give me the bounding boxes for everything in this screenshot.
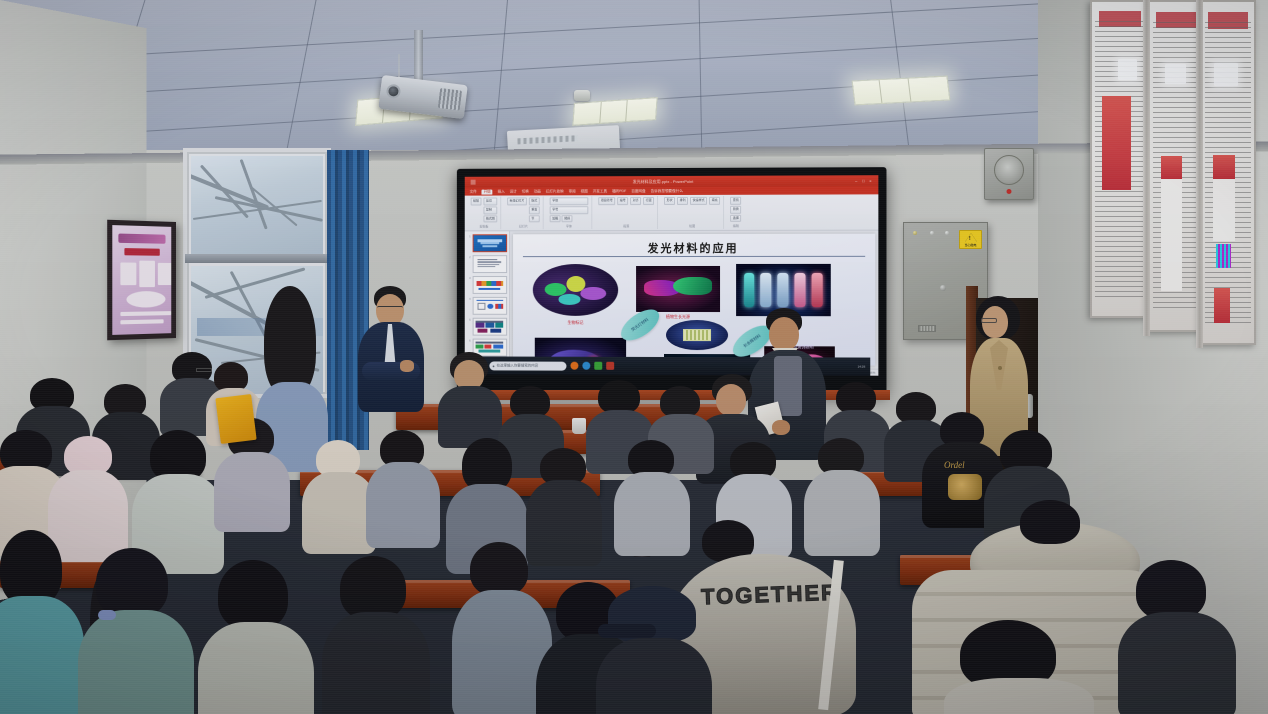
ribbon-group-label: 段落 [598,224,654,228]
italic-button[interactable]: 倾斜 [562,215,573,223]
tab-foxit-pdf[interactable]: 福昕PDF [612,189,626,194]
smoke-detector-icon [574,90,590,101]
slide-title-rule [523,256,865,257]
ribbon-group-font: 字体 字号 加粗 倾斜 字体 [547,196,593,229]
ribbon-group-paragraph: 项目符号 编号 对齐 行距 段落 [595,196,658,229]
slide-title: 发光材料的应用 [513,240,875,256]
yellow-tote-bag [215,394,256,444]
ribbon-group-label: 字体 [550,224,589,228]
eyeglasses [196,368,212,372]
slide-figure [636,266,720,312]
ribbon-group-label: 绘图 [664,224,720,228]
ribbon-group-clipboard: 粘贴 剪切 复制 格式刷 剪贴板 [468,197,502,230]
thumb-preview[interactable] [472,297,507,315]
thumbnail-item[interactable]: 5 [467,318,507,336]
maximize-button[interactable]: □ [862,178,867,183]
framed-poster [107,220,176,341]
screen-surface: 发光材料及应用.pptx - PowerPoint – □ × 文件 开始 插入… [465,175,879,376]
section-button[interactable]: 节 [529,215,540,223]
ribbon: 粘贴 剪切 复制 格式刷 剪贴板 新建幻灯片 [465,194,879,231]
taskbar-clock[interactable]: 14:26 [858,365,866,369]
classroom-photo: 当心触电 发光材料及应用.pptx - PowerPoint – □ × 文件 … [0,0,1268,714]
tab-animations[interactable]: 动画 [534,189,541,194]
cut-button[interactable]: 剪切 [483,198,497,206]
projector-lens [386,84,402,100]
figure-caption: 生物标记 [539,320,612,326]
powerpoint-icon[interactable] [606,362,614,370]
warning-text: 当心触电 [960,243,981,247]
eyeglasses [981,318,997,323]
thumbnail-item[interactable]: 1 [467,234,507,252]
thumb-number: 1 [467,234,471,238]
ribbon-group-editing: 查找 替换 选择 编辑 [727,196,744,229]
new-slide-button[interactable]: 新建幻灯片 [507,197,527,205]
window-glass-upper [191,156,323,256]
poster-divider [1196,0,1203,348]
tab-baidu-pan[interactable]: 百度网盘 [631,189,645,194]
bullets-button[interactable]: 项目符号 [598,197,615,205]
select-button[interactable]: 选择 [730,214,741,222]
tab-home[interactable]: 开始 [482,189,493,194]
taskbar-search-input[interactable]: ● 在这里输入你要搜索的内容 [489,361,566,370]
quick-styles-button[interactable]: 快速样式 [690,197,707,205]
electric-hazard-sticker: 当心触电 [959,230,982,249]
slide-thumbnail-pane[interactable]: 1 2 [465,231,510,367]
tab-design[interactable]: 设计 [510,189,517,194]
line-spacing-button[interactable]: 行距 [643,197,654,205]
arrange-button[interactable]: 排列 [677,197,688,205]
tab-file[interactable]: 文件 [470,189,477,194]
powerpoint-window: 发光材料及应用.pptx - PowerPoint – □ × 文件 开始 插入… [465,175,879,376]
reset-button[interactable]: 重置 [529,206,540,214]
font-family-select[interactable]: 字体 [550,197,589,205]
powerpoint-body: 1 2 [465,231,879,369]
thumb-preview[interactable] [472,234,507,252]
slide-center-node [666,320,728,350]
wall-speaker [984,148,1034,200]
thumbnail-item[interactable]: 4 [467,297,507,315]
replace-button[interactable]: 替换 [730,206,741,214]
wall-poster-frame [1200,0,1256,345]
font-size-select[interactable]: 字号 [550,206,589,214]
format-painter-button[interactable]: 格式刷 [483,215,497,223]
coat-button [998,366,1002,370]
thumb-number: 4 [467,297,471,301]
jacket-text: Ordel [944,460,965,470]
poster-divider [1143,0,1150,336]
shapes-button[interactable]: 形状 [664,197,675,205]
tab-view[interactable]: 视图 [581,189,588,194]
shape-fill-button[interactable]: 填充 [709,197,720,205]
current-slide[interactable]: 发光材料的应用 生物标记 [513,234,875,366]
hair-tie [98,610,116,620]
minimize-button[interactable]: – [855,178,860,183]
hand [400,360,414,372]
ribbon-group-drawing: 形状 排列 快速样式 填充 绘图 [661,196,724,229]
tab-transitions[interactable]: 切换 [522,189,529,194]
eyeglasses [377,306,403,311]
window-title: 发光材料及应用.pptx - PowerPoint [476,178,853,185]
hand [772,420,790,435]
layout-button[interactable]: 版式 [529,197,540,205]
close-button[interactable]: × [869,178,874,183]
paper-cup [572,418,586,434]
thumb-preview[interactable] [472,255,507,273]
window-mullion [185,254,329,263]
thumb-number: 5 [467,318,471,322]
tab-slideshow[interactable]: 幻灯片放映 [546,189,564,194]
ceiling-light-panel [572,97,657,126]
ribbon-group-label: 编辑 [730,224,741,228]
ribbon-group-label: 幻灯片 [507,224,540,228]
ceiling-light-panel [852,76,951,106]
tab-review[interactable]: 审阅 [569,189,576,194]
thumb-preview[interactable] [472,318,507,336]
projection-screen: 发光材料及应用.pptx - PowerPoint – □ × 文件 开始 插入… [457,167,887,394]
tab-insert[interactable]: 插入 [498,189,505,194]
ribbon-group-slides: 新建幻灯片 版式 重置 节 幻灯片 [504,196,544,229]
wall-poster-frame [1090,0,1150,318]
thumbnail-item[interactable]: 2 [467,255,507,273]
jacket-embroidery [948,474,982,500]
browser-icon[interactable] [582,362,590,370]
slide-editing-area[interactable]: 发光材料的应用 生物标记 [510,231,878,369]
numbering-button[interactable]: 编号 [617,197,628,205]
slide-figure [533,264,618,316]
ribbon-group-label: 剪贴板 [471,224,498,228]
copy-button[interactable]: 复制 [483,206,497,214]
wechat-icon[interactable] [594,362,602,370]
align-button[interactable]: 对齐 [630,197,641,205]
head [716,384,746,416]
search-placeholder: 在这里输入你要搜索的内容 [497,363,538,368]
thumb-number: 3 [467,276,471,280]
head [769,317,799,351]
thumbnail-item[interactable]: 3 [467,276,507,294]
thumb-number: 6 [467,339,471,343]
firefox-icon[interactable] [570,362,578,370]
thumb-number: 2 [467,255,471,259]
find-button[interactable]: 查找 [730,197,741,205]
bold-button[interactable]: 加粗 [550,215,561,223]
paste-button[interactable]: 粘贴 [471,198,482,206]
tell-me-box[interactable]: 告诉我您想要做什么 [651,188,683,193]
search-icon: ● [492,363,494,368]
tab-developer[interactable]: 开发工具 [593,189,607,194]
thumb-preview[interactable] [472,276,507,294]
